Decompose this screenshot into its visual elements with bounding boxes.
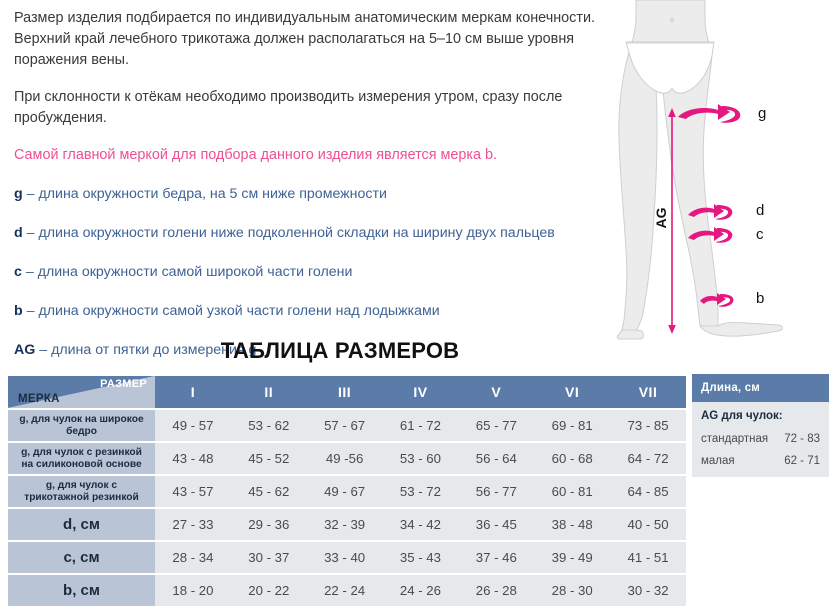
cell-r1-c0: 43 - 48	[155, 443, 231, 474]
length-panel-header: Длина, см	[692, 374, 829, 402]
column-header-1: I	[155, 376, 231, 408]
cell-r5-c4: 26 - 28	[458, 575, 534, 606]
column-header-2: II	[231, 376, 307, 408]
table-row: g, для чулок с трикотажной резинкой 43 -…	[8, 476, 686, 507]
size-table: РАЗМЕР МЕРКА I II III IV V VI VII g, для…	[8, 374, 686, 608]
column-header-5: V	[458, 376, 534, 408]
length-row-small-name: малая	[701, 455, 735, 467]
c-marker-label: c	[756, 226, 764, 243]
cell-r4-c5: 39 - 49	[534, 542, 610, 573]
cell-r5-c0: 18 - 20	[155, 575, 231, 606]
size-table-container: РАЗМЕР МЕРКА I II III IV V VI VII g, для…	[8, 374, 686, 608]
legend-text-g: длина окружности бедра, на 5 см ниже про…	[38, 186, 386, 202]
cell-r1-c6: 64 - 72	[610, 443, 686, 474]
cell-r3-c6: 40 - 50	[610, 509, 686, 540]
row-label-b: b, см	[8, 575, 155, 606]
cell-r1-c4: 56 - 64	[458, 443, 534, 474]
legend-key-b: b	[14, 303, 23, 319]
table-row: b, см 18 - 20 20 - 22 22 - 24 24 - 26 26…	[8, 575, 686, 606]
b-marker-label: b	[756, 290, 764, 307]
cell-r0-c5: 69 - 81	[534, 410, 610, 441]
cell-r4-c6: 41 - 51	[610, 542, 686, 573]
cell-r2-c6: 64 - 85	[610, 476, 686, 507]
cell-r0-c4: 65 - 77	[458, 410, 534, 441]
cell-r2-c2: 49 - 67	[307, 476, 383, 507]
legend-item-g: g – длина окружности бедра, на 5 см ниже…	[14, 184, 610, 204]
length-row-small: малая 62 - 71	[701, 455, 820, 467]
cell-r0-c1: 53 - 62	[231, 410, 307, 441]
length-row-small-value: 62 - 71	[784, 455, 820, 467]
leg-measurement-illustration: AG g d c b	[600, 0, 836, 360]
cell-r4-c0: 28 - 34	[155, 542, 231, 573]
legend-dash-d: –	[27, 225, 35, 241]
table-row: d, см 27 - 33 29 - 36 32 - 39 34 - 42 36…	[8, 509, 686, 540]
row-label-g-knit-band: g, для чулок с трикотажной резинкой	[8, 476, 155, 507]
legend-item-c: c – длина окружности самой широкой части…	[14, 262, 610, 282]
cell-r3-c3: 34 - 42	[383, 509, 459, 540]
intro-paragraph-1: Размер изделия подбирается по индивидуал…	[14, 8, 610, 71]
cell-r0-c6: 73 - 85	[610, 410, 686, 441]
legend-dash-g: –	[27, 186, 35, 202]
legend-key-g: g	[14, 186, 23, 202]
length-panel: Длина, см AG для чулок: стандартная 72 -…	[692, 374, 829, 477]
corner-size-label: РАЗМЕР	[100, 378, 147, 390]
cell-r3-c2: 32 - 39	[307, 509, 383, 540]
cell-r5-c2: 22 - 24	[307, 575, 383, 606]
cell-r2-c4: 56 - 77	[458, 476, 534, 507]
cell-r4-c3: 35 - 43	[383, 542, 459, 573]
legend-text-d: длина окружности голени ниже подколенной…	[38, 225, 554, 241]
ag-label: AG	[653, 207, 669, 228]
cell-r0-c2: 57 - 67	[307, 410, 383, 441]
legend-key-d: d	[14, 225, 23, 241]
cell-r4-c2: 33 - 40	[307, 542, 383, 573]
table-corner-header: РАЗМЕР МЕРКА	[8, 376, 155, 408]
column-header-7: VII	[610, 376, 686, 408]
length-row-standard-value: 72 - 83	[784, 433, 820, 445]
cell-r3-c0: 27 - 33	[155, 509, 231, 540]
intro-highlight-note: Самой главной меркой для подбора данного…	[14, 145, 610, 166]
legend-key-c: c	[14, 264, 22, 280]
cell-r0-c3: 61 - 72	[383, 410, 459, 441]
g-marker-label: g	[758, 105, 766, 122]
intro-text-block: Размер изделия подбирается по индивидуал…	[14, 8, 610, 379]
table-header-row: РАЗМЕР МЕРКА I II III IV V VI VII	[8, 376, 686, 408]
legend-dash-b: –	[27, 303, 35, 319]
row-label-g-silicone-band: g, для чулок с резинкой на силиконовой о…	[8, 443, 155, 474]
legend-text-b: длина окружности самой узкой части голен…	[38, 303, 439, 319]
body-silhouette-icon	[617, 0, 782, 339]
legend-item-b: b – длина окружности самой узкой части г…	[14, 301, 610, 321]
length-row-standard-name: стандартная	[701, 433, 768, 445]
legend-text-c: длина окружности самой широкой части гол…	[38, 264, 353, 280]
cell-r2-c3: 53 - 72	[383, 476, 459, 507]
row-label-c: c, см	[8, 542, 155, 573]
legend-item-d: d – длина окружности голени ниже подколе…	[14, 223, 610, 243]
intro-paragraph-2: При склонности к отёкам необходимо произ…	[14, 87, 610, 129]
cell-r5-c1: 20 - 22	[231, 575, 307, 606]
page-title: ТАБЛИЦА РАЗМЕРОВ	[0, 338, 680, 364]
cell-r1-c2: 49 -56	[307, 443, 383, 474]
cell-r1-c1: 45 - 52	[231, 443, 307, 474]
cell-r5-c6: 30 - 32	[610, 575, 686, 606]
row-label-g-wide-hip: g, для чулок на широкое бедро	[8, 410, 155, 441]
column-header-4: IV	[383, 376, 459, 408]
row-label-d: d, см	[8, 509, 155, 540]
cell-r4-c4: 37 - 46	[458, 542, 534, 573]
cell-r0-c0: 49 - 57	[155, 410, 231, 441]
cell-r3-c1: 29 - 36	[231, 509, 307, 540]
cell-r5-c3: 24 - 26	[383, 575, 459, 606]
column-header-6: VI	[534, 376, 610, 408]
cell-r5-c5: 28 - 30	[534, 575, 610, 606]
cell-r3-c5: 38 - 48	[534, 509, 610, 540]
cell-r4-c1: 30 - 37	[231, 542, 307, 573]
cell-r2-c0: 43 - 57	[155, 476, 231, 507]
table-row: g, для чулок на широкое бедро 49 - 57 53…	[8, 410, 686, 441]
length-panel-body: AG для чулок: стандартная 72 - 83 малая …	[692, 402, 829, 477]
table-row: g, для чулок с резинкой на силиконовой о…	[8, 443, 686, 474]
corner-measure-label: МЕРКА	[18, 393, 60, 405]
cell-r3-c4: 36 - 45	[458, 509, 534, 540]
legend-dash-c: –	[26, 264, 34, 280]
column-header-3: III	[307, 376, 383, 408]
length-row-standard: стандартная 72 - 83	[701, 433, 820, 445]
cell-r1-c5: 60 - 68	[534, 443, 610, 474]
cell-r1-c3: 53 - 60	[383, 443, 459, 474]
length-panel-subtitle: AG для чулок:	[701, 410, 820, 422]
d-marker-label: d	[756, 202, 764, 219]
cell-r2-c1: 45 - 62	[231, 476, 307, 507]
cell-r2-c5: 60 - 81	[534, 476, 610, 507]
table-row: c, см 28 - 34 30 - 37 33 - 40 35 - 43 37…	[8, 542, 686, 573]
